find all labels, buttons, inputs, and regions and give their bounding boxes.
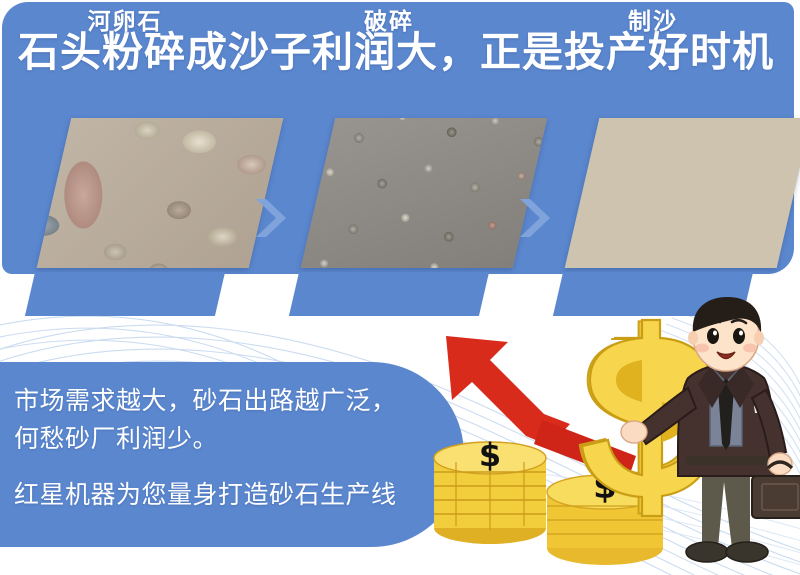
- process-image-crushed-gravel: [301, 118, 548, 268]
- crushed-gravel-photo: [301, 118, 548, 268]
- manufactured-sand-photo: [565, 118, 800, 268]
- process-label-crushing: 破碎: [294, 0, 484, 44]
- process-image-sand: [565, 118, 800, 268]
- message-line-2: 何愁砂厂利润少。: [14, 420, 444, 458]
- chevron-right-icon: [250, 196, 292, 240]
- coin-stack-front: $: [434, 436, 546, 544]
- hand-left: [621, 421, 647, 443]
- process-caption-bar-1: [25, 272, 225, 316]
- message-line-1: 市场需求越大，砂石出路越广泛，: [14, 382, 444, 420]
- process-image-river-pebbles: [37, 118, 284, 268]
- growth-illustration: $ $: [430, 296, 800, 575]
- chevron-right-icon: [514, 196, 556, 240]
- message-text-block: 市场需求越大，砂石出路越广泛， 何愁砂厂利润少。 红星机器为您量身打造砂石生产线: [14, 382, 444, 514]
- river-pebbles-photo: [37, 118, 284, 268]
- coin-dollar-symbol-front: $: [479, 436, 501, 474]
- poster-root: 石头粉碎成沙子利润大，正是投产好时机 河卵石 破碎 制沙 市场需求越大，砂石出路…: [0, 0, 800, 575]
- message-line-3: 红星机器为您量身打造砂石生产线: [14, 476, 444, 514]
- process-label-sand-making: 制沙: [558, 0, 748, 44]
- process-label-river-pebbles: 河卵石: [30, 0, 220, 44]
